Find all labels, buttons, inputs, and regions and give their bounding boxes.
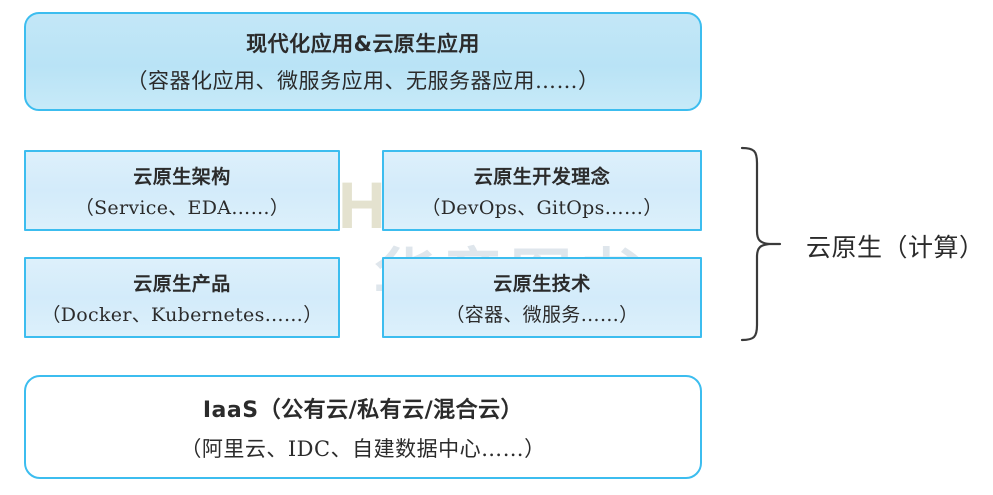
layer-detail-architecture: （Service、EDA……） bbox=[75, 193, 289, 220]
layer-box-technology: 云原生技术 （容器、微服务……） bbox=[382, 257, 702, 338]
layer-box-dev-philosophy: 云原生开发理念 （DevOps、GitOps……） bbox=[382, 150, 702, 231]
layer-title-applications: 现代化应用&云原生应用 bbox=[246, 28, 480, 58]
layer-detail-applications: （容器化应用、微服务应用、无服务器应用……） bbox=[127, 65, 600, 95]
cloud-native-stack-diagram: HZBOOKS 华章图书 现代化应用&云原生应用 （容器化应用、微服务应用、无服… bbox=[0, 0, 993, 495]
layer-box-products: 云原生产品 （Docker、Kubernetes……） bbox=[24, 257, 340, 338]
layer-title-products: 云原生产品 bbox=[133, 269, 231, 296]
layer-box-architecture: 云原生架构 （Service、EDA……） bbox=[24, 150, 340, 231]
layer-detail-dev-philosophy: （DevOps、GitOps……） bbox=[421, 193, 662, 220]
layer-detail-infrastructure: （阿里云、IDC、自建数据中心……） bbox=[180, 433, 545, 463]
layer-title-architecture: 云原生架构 bbox=[133, 162, 231, 189]
layer-title-infrastructure: IaaS（公有云/私有云/混合云） bbox=[203, 392, 523, 424]
layer-detail-technology: （容器、微服务……） bbox=[445, 300, 638, 327]
group-brace-icon bbox=[740, 143, 784, 345]
layer-box-applications: 现代化应用&云原生应用 （容器化应用、微服务应用、无服务器应用……） bbox=[24, 12, 702, 111]
layer-detail-products: （Docker、Kubernetes……） bbox=[41, 300, 322, 327]
layer-title-technology: 云原生技术 bbox=[493, 269, 591, 296]
group-label-cloud-native: 云原生（计算） bbox=[806, 228, 985, 264]
layer-box-infrastructure: IaaS（公有云/私有云/混合云） （阿里云、IDC、自建数据中心……） bbox=[24, 375, 702, 479]
layer-title-dev-philosophy: 云原生开发理念 bbox=[474, 162, 611, 189]
